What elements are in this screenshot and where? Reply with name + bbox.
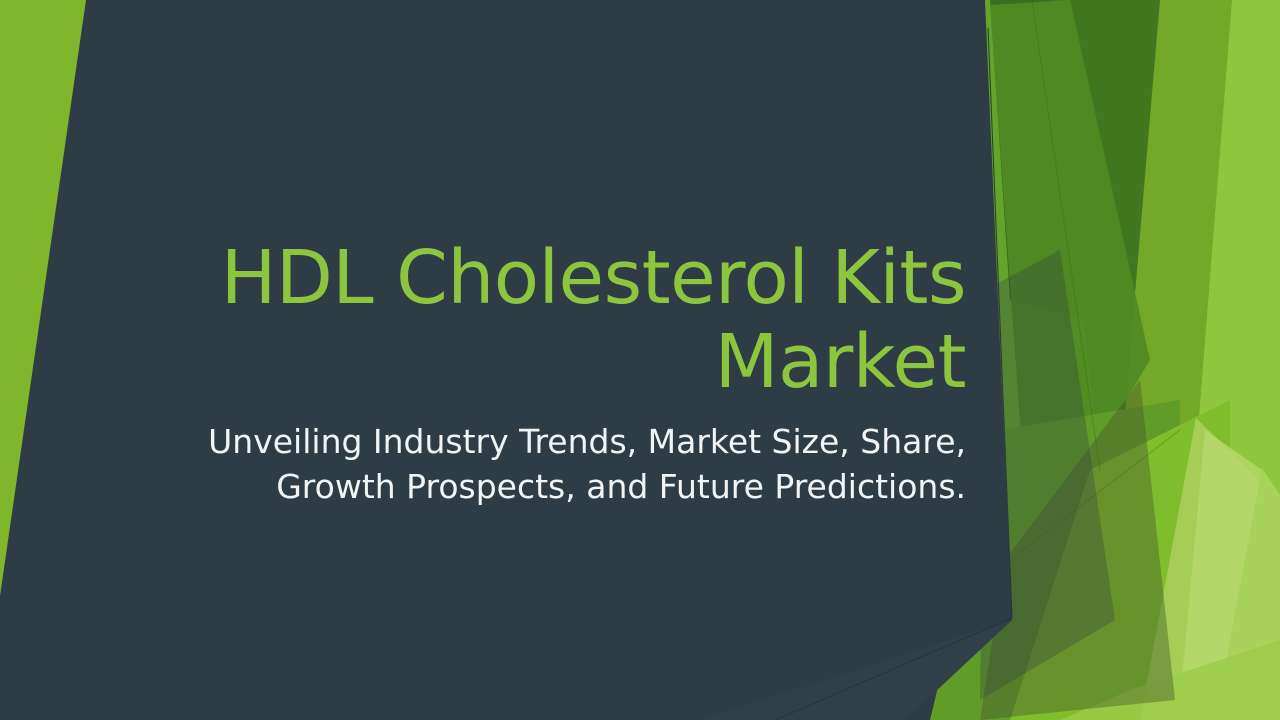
presentation-slide: HDL Cholesterol Kits Market Unveiling In… bbox=[0, 0, 1280, 720]
slide-title: HDL Cholesterol Kits Market bbox=[180, 236, 966, 405]
slide-subtitle: Unveiling Industry Trends, Market Size, … bbox=[180, 419, 966, 510]
slide-text-block: HDL Cholesterol Kits Market Unveiling In… bbox=[180, 236, 966, 510]
